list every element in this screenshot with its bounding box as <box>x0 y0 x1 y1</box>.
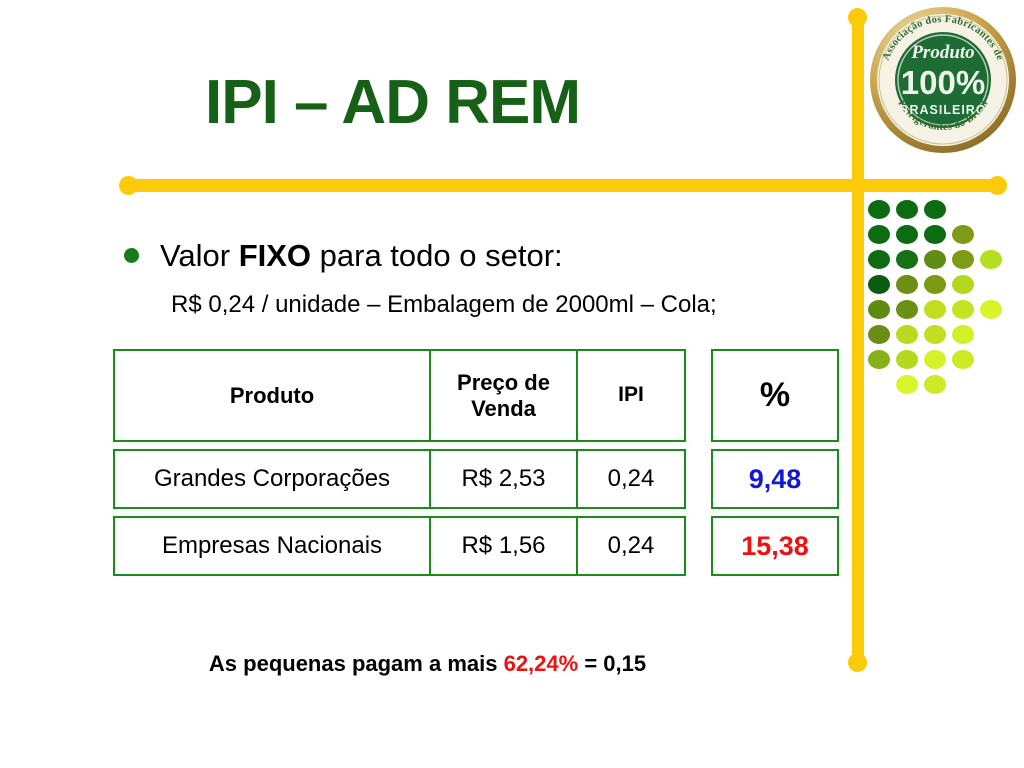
grid-dot <box>896 250 918 269</box>
grid-dot <box>896 350 918 369</box>
footer-suffix: = 0,15 <box>578 651 646 676</box>
grid-dot <box>924 375 946 394</box>
header-cell-preco-venda: Preço de Venda <box>431 351 578 440</box>
page-title: IPI – AD REM <box>205 72 580 134</box>
percent-value-cell: 15,38 <box>711 516 839 576</box>
grid-dot <box>924 350 946 369</box>
horizontal-rule-right-cap <box>988 176 1007 195</box>
grid-dot <box>980 300 1002 319</box>
decorative-dot-grid <box>868 200 1018 400</box>
footer-highlight: 62,24% <box>504 651 579 676</box>
table-header-row: Produto Preço de Venda IPI <box>113 349 686 442</box>
grid-dot <box>952 300 974 319</box>
cell-produto: Empresas Nacionais <box>115 518 431 574</box>
grid-dot <box>924 225 946 244</box>
grid-dot <box>952 325 974 344</box>
grid-dot <box>924 250 946 269</box>
grid-dot <box>924 325 946 344</box>
header-cell-produto: Produto <box>115 351 431 440</box>
grid-dot <box>896 275 918 294</box>
cell-preco: R$ 1,56 <box>431 518 578 574</box>
header-preco-line1: Preço de <box>457 370 550 395</box>
percent-value-cell: 9,48 <box>711 449 839 509</box>
grid-dot <box>952 350 974 369</box>
bullet-item: Valor FIXO para todo o setor: <box>124 240 563 271</box>
ipi-table: Produto Preço de Venda IPI Grandes Corpo… <box>113 349 686 576</box>
grid-dot <box>896 200 918 219</box>
grid-dot <box>952 225 974 244</box>
table-row: Grandes Corporações R$ 2,53 0,24 <box>113 449 686 509</box>
horizontal-accent-rule <box>124 179 1000 192</box>
grid-dot <box>924 200 946 219</box>
grid-dot <box>868 300 890 319</box>
cell-preco: R$ 2,53 <box>431 451 578 507</box>
footer-prefix: As pequenas pagam a mais <box>209 651 504 676</box>
grid-dot <box>868 225 890 244</box>
grid-dot <box>924 300 946 319</box>
seal-word-produto: Produto <box>910 42 974 63</box>
horizontal-rule-left-cap <box>119 176 138 195</box>
bullet-text-emphasis: FIXO <box>239 238 311 273</box>
bullet-text-suffix: para todo o setor: <box>311 238 563 273</box>
percent-column: % 9,48 15,38 <box>711 349 839 576</box>
vertical-accent-rule <box>852 10 864 665</box>
bullet-subline: R$ 0,24 / unidade – Embalagem de 2000ml … <box>171 293 717 317</box>
footer-note: As pequenas pagam a mais 62,24% = 0,15 <box>0 651 855 677</box>
produto-100-brasileiro-seal-icon: Associação dos Fabricantes de Refrigeran… <box>869 6 1017 154</box>
grid-dot <box>924 275 946 294</box>
header-preco-line2: Venda <box>471 396 536 421</box>
percent-header-cell: % <box>711 349 839 442</box>
grid-dot <box>896 325 918 344</box>
grid-dot <box>868 200 890 219</box>
grid-dot <box>896 300 918 319</box>
grid-dot <box>868 325 890 344</box>
header-cell-ipi: IPI <box>578 351 684 440</box>
grid-dot <box>980 250 1002 269</box>
grid-dot <box>952 250 974 269</box>
seal-word-percent: 100% <box>901 64 985 101</box>
cell-produto: Grandes Corporações <box>115 451 431 507</box>
vertical-rule-top-cap <box>848 8 867 27</box>
cell-ipi: 0,24 <box>578 451 684 507</box>
bullet-text-prefix: Valor <box>160 238 239 273</box>
grid-dot <box>868 350 890 369</box>
grid-dot <box>868 250 890 269</box>
seal-word-brasileiro: BRASILEIRO <box>899 103 986 117</box>
bullet-dot-icon <box>124 248 139 263</box>
grid-dot <box>868 275 890 294</box>
slide-canvas: IPI – AD REM Valor FIXO para todo o seto… <box>0 0 1024 768</box>
grid-dot <box>896 375 918 394</box>
grid-dot <box>952 275 974 294</box>
grid-dot <box>896 225 918 244</box>
bullet-text: Valor FIXO para todo o setor: <box>160 240 563 271</box>
table-row: Empresas Nacionais R$ 1,56 0,24 <box>113 516 686 576</box>
cell-ipi: 0,24 <box>578 518 684 574</box>
